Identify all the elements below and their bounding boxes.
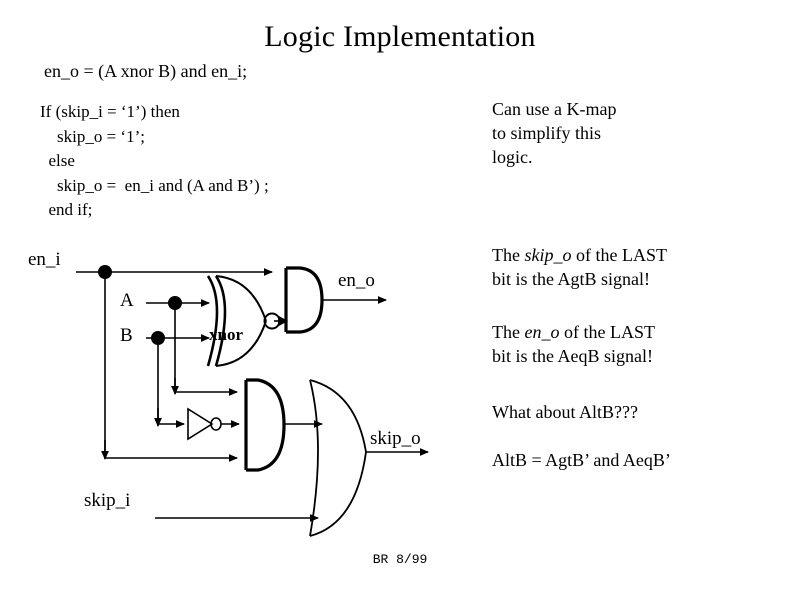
signal-label-b: B: [120, 326, 133, 345]
or-gate-back-arc: [310, 380, 318, 536]
not-gate-bubble: [211, 418, 221, 430]
equation-en-o: en_o = (A xnor B) and en_i;: [44, 60, 247, 82]
signal-label-a: A: [120, 291, 134, 310]
junction-dot-b: [151, 331, 165, 345]
xor-back-arc-inner: [216, 276, 225, 366]
note-altb-equation: AltB = AgtB’ and AeqB’: [492, 448, 671, 472]
note-kmap: Can use a K-map to simplify this logic.: [492, 97, 616, 169]
note-skip-emphasis: skip_o: [524, 245, 571, 265]
note-skip-last-bit: The skip_o of the LAST bit is the AgtB s…: [492, 243, 667, 291]
or-gate-bottom-arc: [310, 452, 366, 536]
and1-body: [286, 268, 322, 332]
note-en-last-bit: The en_o of the LAST bit is the AeqB sig…: [492, 320, 655, 368]
note-skip-prefix: The: [492, 245, 524, 265]
signal-label-en-o: en_o: [338, 271, 375, 290]
signal-label-skip-o: skip_o: [370, 429, 421, 448]
signal-label-en-i: en_i: [28, 250, 61, 269]
and2-body: [246, 380, 284, 470]
gate-label-xnor: xnor: [209, 326, 243, 343]
slide-footer: BR 8/99: [0, 552, 800, 567]
note-what-about-altb: What about AltB???: [492, 400, 638, 424]
junction-dot-a: [168, 296, 182, 310]
signal-label-skip-i: skip_i: [84, 491, 130, 510]
pseudocode-block: If (skip_i = ‘1’) then skip_o = ‘1’; els…: [40, 100, 269, 223]
note-en-emphasis: en_o: [524, 322, 559, 342]
or-gate-top-arc: [310, 380, 366, 452]
xnor-body-top: [216, 276, 266, 321]
slide-canvas: Logic Implementation en_o = (A xnor B) a…: [0, 0, 800, 600]
not-gate-triangle: [188, 409, 212, 439]
page-title: Logic Implementation: [0, 20, 800, 54]
xnor-bubble: [265, 314, 280, 329]
wire-xnor-arrowhead: [278, 316, 288, 327]
note-en-prefix: The: [492, 322, 524, 342]
junction-dot-en-i: [98, 265, 112, 279]
xor-back-arc-outer: [208, 276, 217, 366]
